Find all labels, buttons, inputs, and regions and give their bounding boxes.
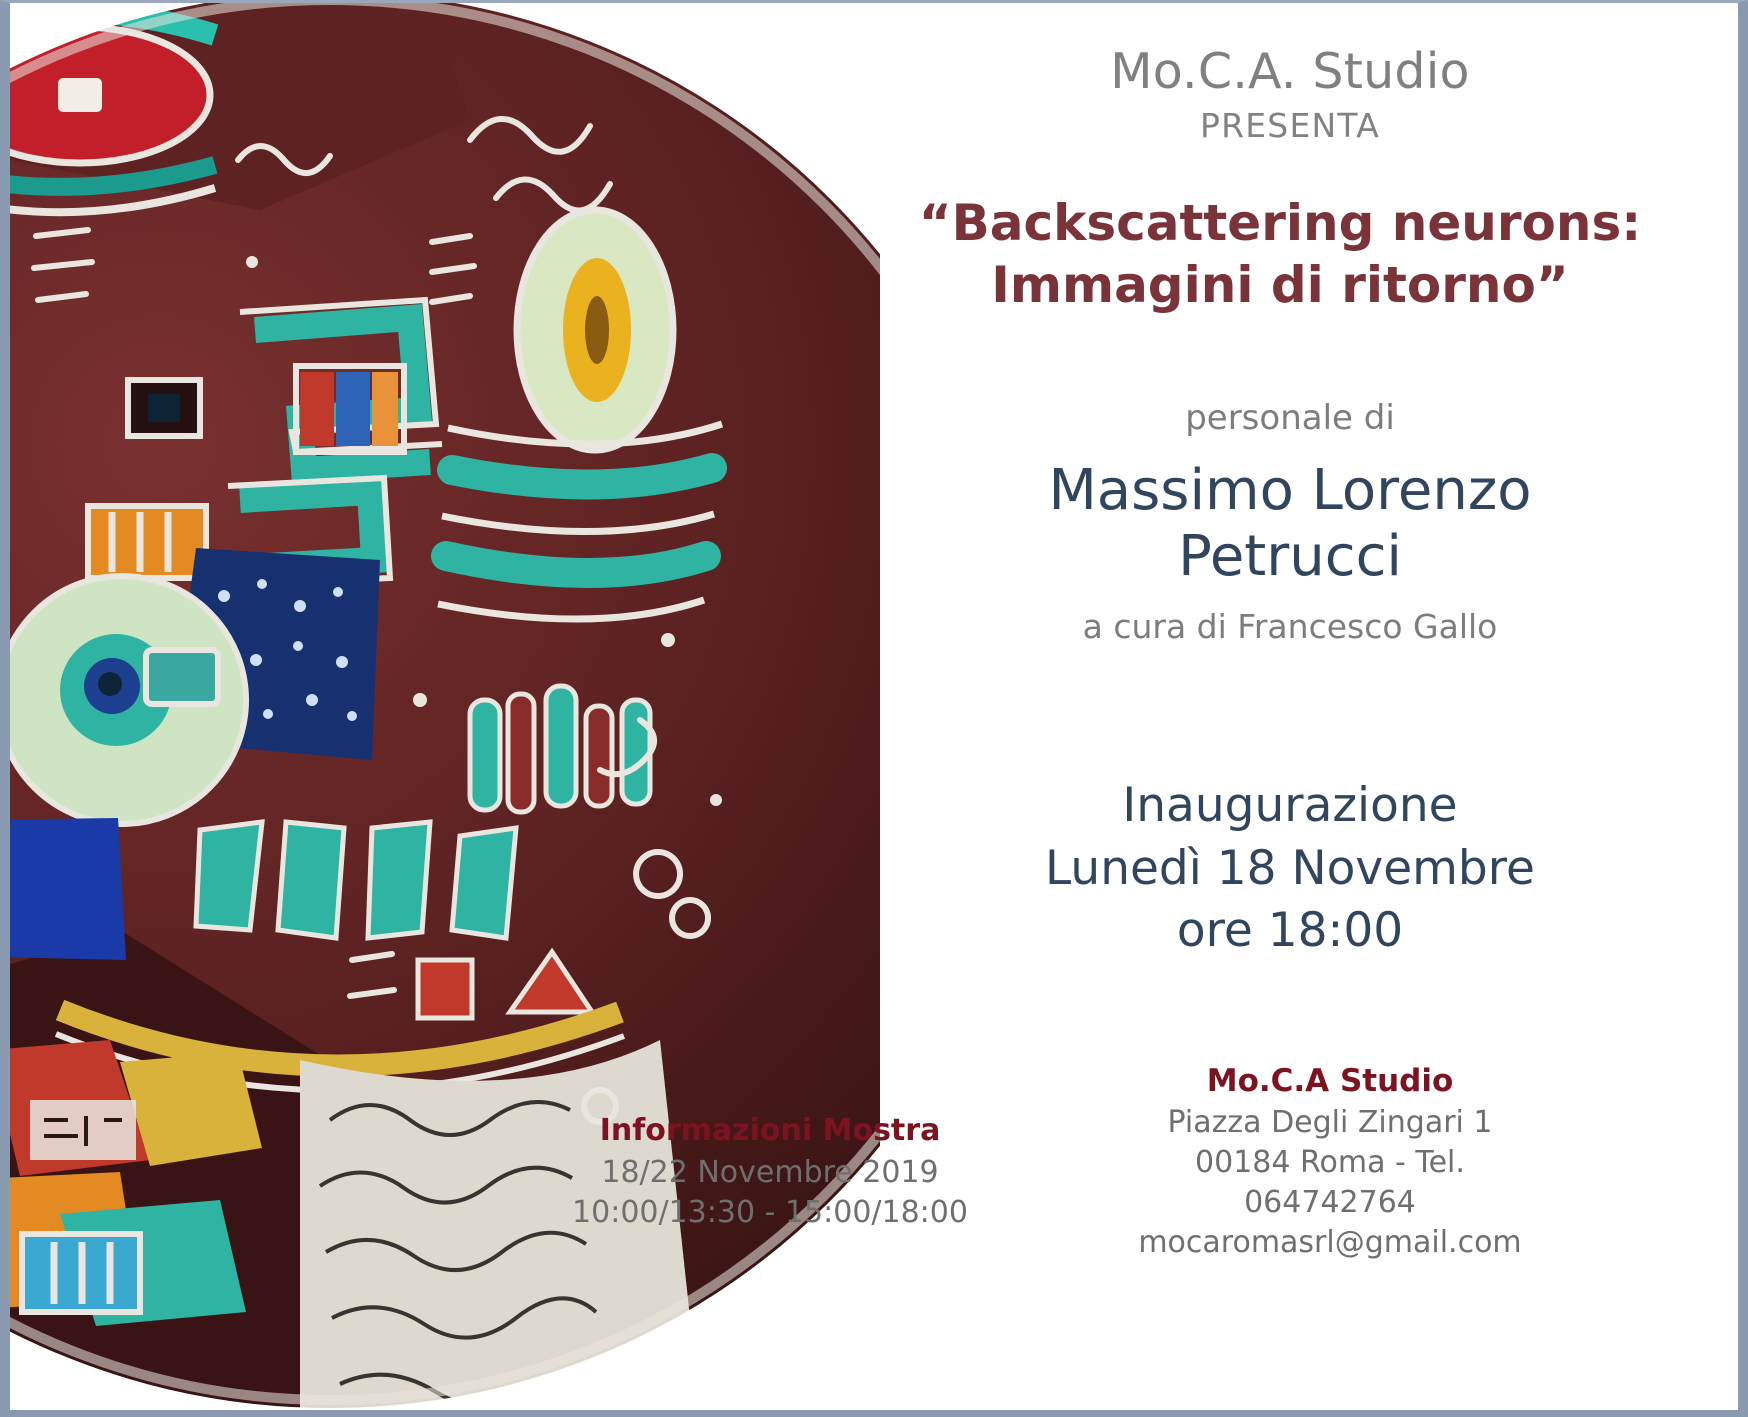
opening-heading: Inaugurazione (890, 775, 1690, 838)
artist-name-line2: Petrucci (890, 524, 1690, 590)
contact-studio-name: Mo.C.A Studio (1110, 1063, 1550, 1099)
contact-address: Piazza Degli Zingari 1 (1110, 1103, 1550, 1143)
curator-credit: a cura di Francesco Gallo (890, 607, 1690, 646)
contact-city-phone: 00184 Roma - Tel. 064742764 (1110, 1143, 1550, 1223)
opening-block: Inaugurazione Lunedì 18 Novembre ore 18:… (890, 775, 1690, 963)
presenta-label: PRESENTA (890, 106, 1690, 145)
exhibition-info-dates: 18/22 Novembre 2019 (550, 1153, 990, 1193)
exhibition-title-line1: “Backscattering neurons: (810, 193, 1748, 255)
opening-time: ore 18:00 (890, 900, 1690, 963)
exhibition-info-hours: 10:00/13:30 - 15:00/18:00 (550, 1193, 990, 1233)
studio-name: Mo.C.A. Studio (890, 43, 1690, 100)
exhibition-info-heading: Informazioni Mostra (550, 1113, 990, 1148)
personale-label: personale di (890, 398, 1690, 438)
exhibition-title-line2: Immagini di ritorno” (810, 255, 1748, 317)
artist-name-line1: Massimo Lorenzo (890, 458, 1690, 524)
exhibition-title: “Backscattering neurons: Immagini di rit… (810, 193, 1748, 316)
contact-block: Mo.C.A Studio Piazza Degli Zingari 1 001… (1110, 1063, 1550, 1263)
contact-email[interactable]: mocaromasrl@gmail.com (1110, 1223, 1550, 1263)
exhibition-info-block: Informazioni Mostra 18/22 Novembre 2019 … (550, 1113, 990, 1233)
exhibition-poster: Mo.C.A. Studio PRESENTA “Backscattering … (0, 0, 1748, 1417)
opening-date: Lunedì 18 Novembre (890, 838, 1690, 901)
artist-name: Massimo Lorenzo Petrucci (890, 458, 1690, 590)
